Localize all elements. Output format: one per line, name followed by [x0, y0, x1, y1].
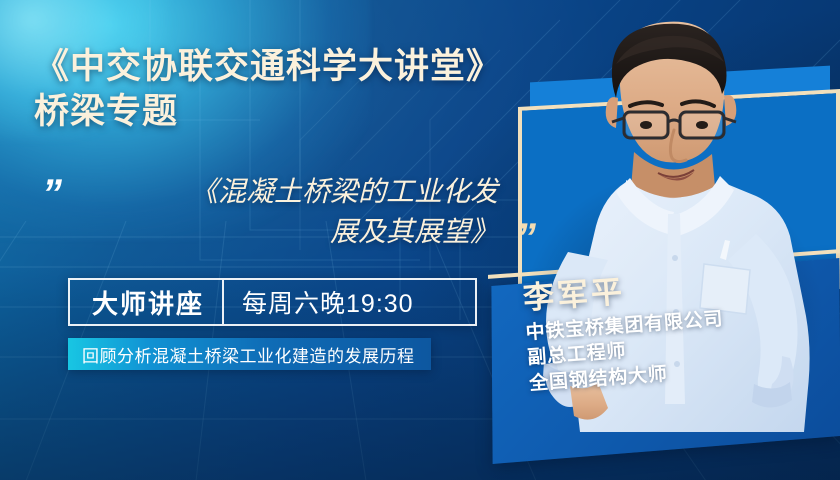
title-block: 《中交协联交通科学大讲堂》 桥梁专题 — [34, 46, 502, 133]
schedule-label: 大师讲座 — [70, 284, 220, 321]
subtitle-text: 《混凝土桥梁的工业化发 展及其展望》 — [88, 172, 498, 252]
schedule-divider — [222, 280, 224, 324]
page-title-line1: 《中交协联交通科学大讲堂》 — [34, 46, 502, 87]
description-text: 回顾分析混凝土桥梁工业化建造的发展历程 — [82, 342, 415, 367]
speaker-info: 李军平 中铁宝桥集团有限公司 副总工程师 全国钢结构大师 — [522, 259, 840, 397]
description-banner: 回顾分析混凝土桥梁工业化建造的发展历程 — [68, 338, 431, 370]
subtitle-block: ” 《混凝土桥梁的工业化发 展及其展望》 ” — [40, 172, 515, 252]
schedule-time: 每周六晚19:30 — [226, 284, 414, 320]
subtitle-line2: 展及其展望》 — [88, 212, 498, 252]
quote-open-icon: ” — [42, 174, 59, 214]
schedule-box: 大师讲座 每周六晚19:30 — [68, 278, 477, 326]
promo-poster: 李军平 中铁宝桥集团有限公司 副总工程师 全国钢结构大师 《中交协联交通科学大讲… — [0, 0, 840, 480]
quote-close-icon: ” — [516, 218, 533, 258]
page-title-line2: 桥梁专题 — [34, 91, 502, 132]
subtitle-line1: 《混凝土桥梁的工业化发 — [88, 172, 498, 212]
